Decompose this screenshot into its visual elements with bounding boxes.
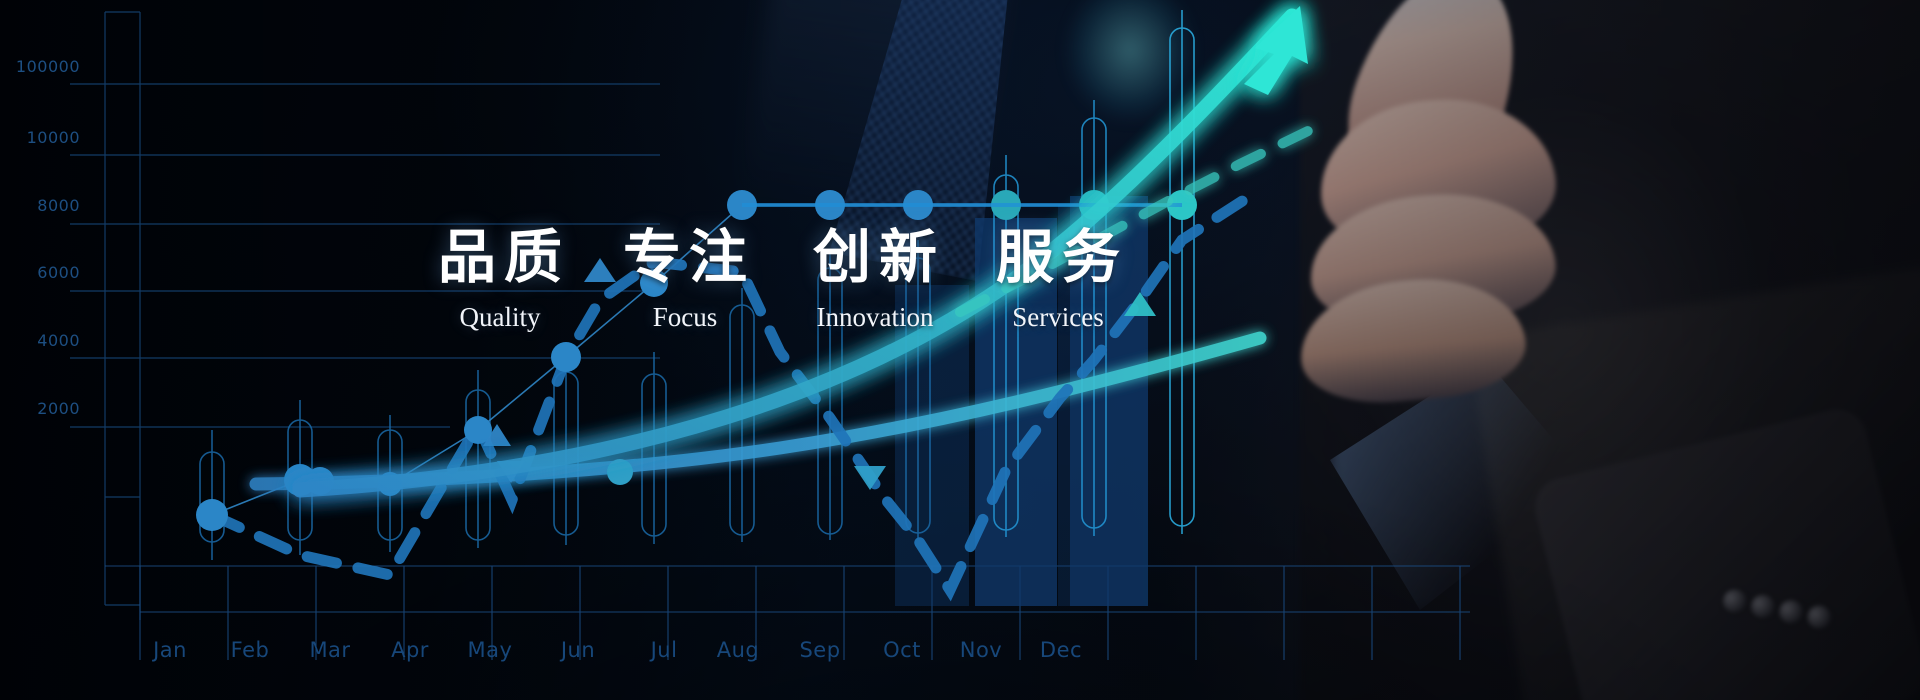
hero-banner: 100000 10000 8000 6000 4000 2000 Jan Feb… <box>0 0 1920 700</box>
y-tick-label: 8000 <box>0 196 80 215</box>
slogan-en-text: Focus <box>575 300 795 334</box>
y-tick-label: 10000 <box>0 128 80 147</box>
x-tick-label-jan: Jan <box>127 638 213 662</box>
x-tick-label-feb: Feb <box>207 638 293 662</box>
slogan-cn-text: 专注 <box>575 226 795 288</box>
x-tick-label-nov: Nov <box>938 638 1024 662</box>
x-tick-label-oct: Oct <box>859 638 945 662</box>
x-tick-label-apr: Apr <box>367 638 453 662</box>
financial-chart: 100000 10000 8000 6000 4000 2000 Jan Feb… <box>0 0 1920 700</box>
x-tick-label-sep: Sep <box>777 638 863 662</box>
x-tick-label-dec: Dec <box>1018 638 1104 662</box>
x-tick-label-may: May <box>447 638 533 662</box>
y-tick-label: 6000 <box>0 263 80 282</box>
slogan-services: 服务 Services <box>948 226 1168 334</box>
y-tick-label: 2000 <box>0 399 80 418</box>
x-tick-label-mar: Mar <box>287 638 373 662</box>
x-tick-label-jun: Jun <box>535 638 621 662</box>
slogan-en-text: Services <box>948 300 1168 334</box>
slogan-cn-text: 服务 <box>948 226 1168 288</box>
y-tick-label: 4000 <box>0 331 80 350</box>
y-tick-label: 100000 <box>0 57 80 76</box>
x-tick-label-aug: Aug <box>695 638 781 662</box>
slogan-focus: 专注 Focus <box>575 226 795 334</box>
